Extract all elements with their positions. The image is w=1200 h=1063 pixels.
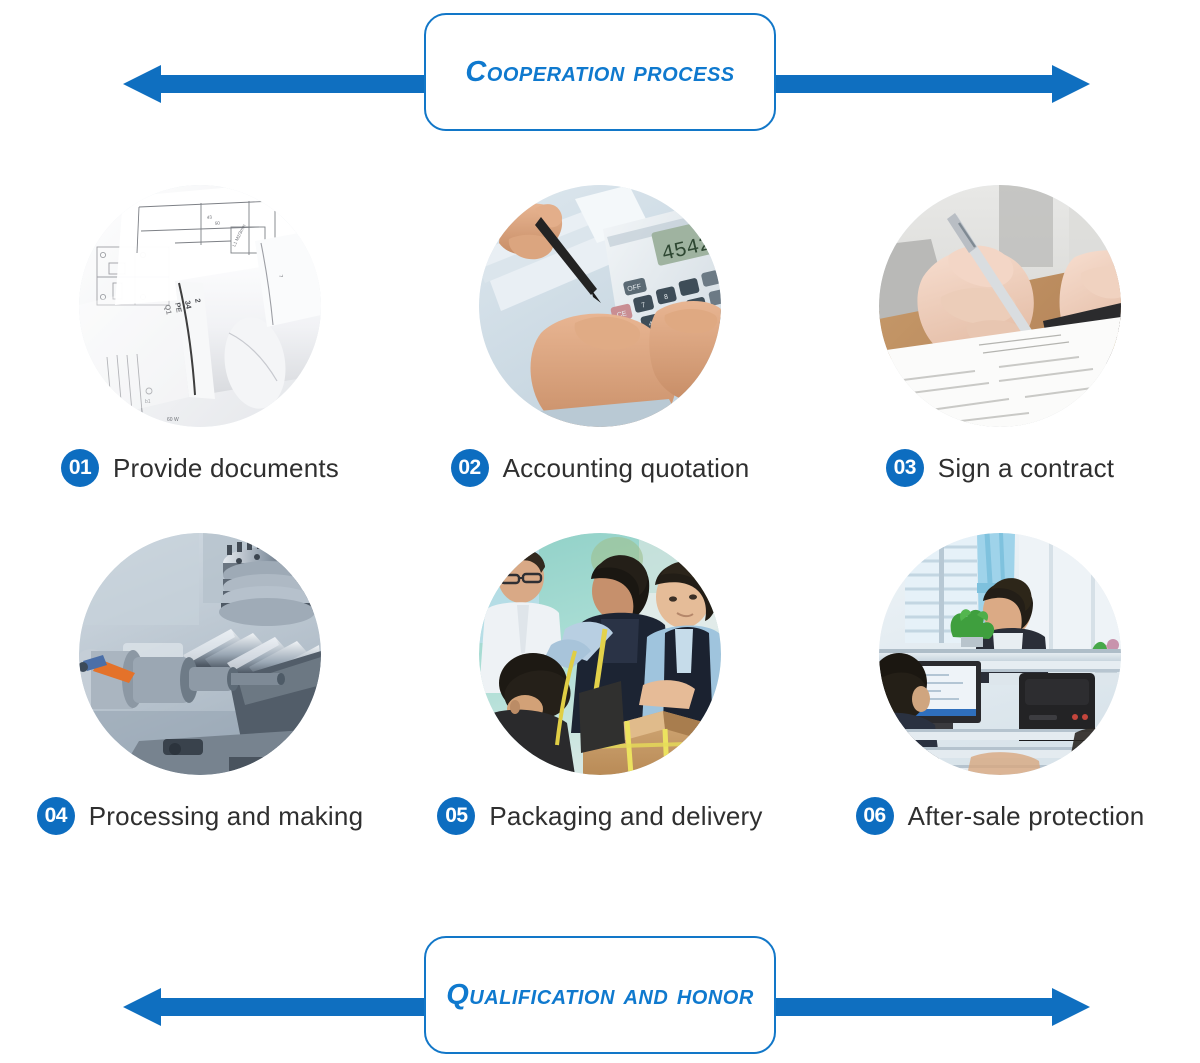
svg-text:50: 50 [215, 220, 221, 226]
step-item-01[interactable]: 43 50 L1 M2/3mm 7 Q1 [0, 185, 400, 533]
step-number-badge: 04 [37, 797, 75, 835]
step-caption-04: 04 Processing and making [37, 797, 363, 835]
svg-text:L: L [93, 371, 96, 377]
step-label: Sign a contract [938, 453, 1114, 484]
step-caption-06: 06 After-sale protection [856, 797, 1145, 835]
top-banner: Cooperation process [0, 5, 1200, 140]
step-label: Processing and making [89, 801, 363, 832]
svg-text:60 W: 60 W [167, 417, 179, 423]
step-number-badge: 03 [886, 449, 924, 487]
step-item-05[interactable]: 05 Packaging and delivery [400, 533, 800, 881]
step-label: Accounting quotation [503, 453, 750, 484]
svg-text:43: 43 [207, 214, 213, 220]
step-item-02[interactable]: 4542 [400, 185, 800, 533]
hands-using-calculator-photo: 4542 [479, 185, 721, 427]
step-item-06[interactable]: 06 After-sale protection [800, 533, 1200, 881]
step-caption-05: 05 Packaging and delivery [437, 797, 762, 835]
workers-packing-boxes-photo [479, 533, 721, 775]
process-steps-grid: 43 50 L1 M2/3mm 7 Q1 [0, 185, 1200, 881]
step-item-03[interactable]: 03 Sign a contract [800, 185, 1200, 533]
bottom-banner-title: Qualification and honor [446, 979, 754, 1012]
top-banner-title: Cooperation process [465, 56, 734, 89]
hand-signing-contract-photo [879, 185, 1121, 427]
step-caption-01: 01 Provide documents [61, 449, 339, 487]
step-label: After-sale protection [908, 801, 1145, 832]
step-number-badge: 02 [451, 449, 489, 487]
step-number-badge: 06 [856, 797, 894, 835]
step-caption-02: 02 Accounting quotation [451, 449, 750, 487]
step-number-badge: 05 [437, 797, 475, 835]
step-label: Provide documents [113, 453, 339, 484]
step-number-badge: 01 [61, 449, 99, 487]
bottom-banner: Qualification and honor [0, 928, 1200, 1063]
step-label: Packaging and delivery [489, 801, 762, 832]
rolled-blueprints-photo: 43 50 L1 M2/3mm 7 Q1 [79, 185, 321, 427]
office-workers-computers-photo [879, 533, 1121, 775]
bottom-banner-box: Qualification and honor [424, 936, 776, 1054]
top-banner-box: Cooperation process [424, 13, 776, 131]
step-item-04[interactable]: 04 Processing and making [0, 533, 400, 881]
cnc-machining-photo [79, 533, 321, 775]
step-caption-03: 03 Sign a contract [886, 449, 1114, 487]
